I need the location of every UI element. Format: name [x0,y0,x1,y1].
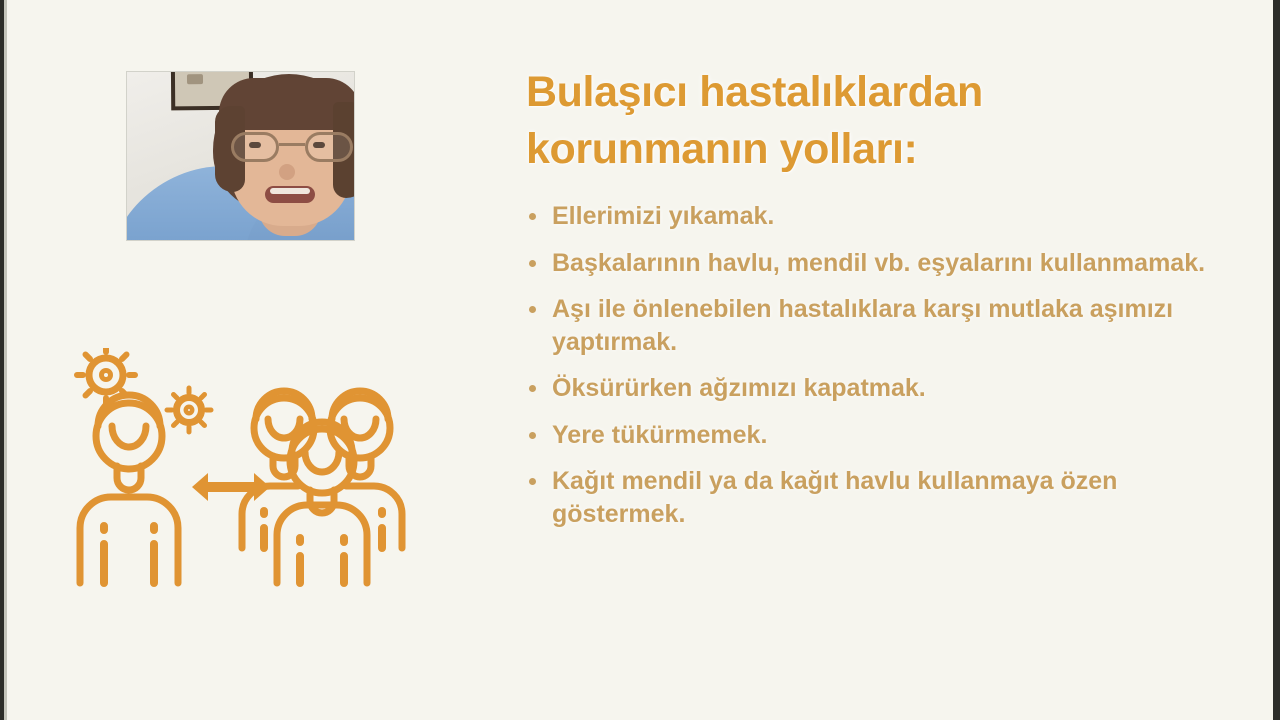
glasses-lens-right [305,132,353,162]
glasses-lens-left [231,132,279,162]
bullet-dot-icon [529,385,536,392]
bullet-dot-icon [529,432,536,439]
list-item-label: Öksürürken ağzımızı kapatmak. [552,374,926,402]
list-item-label: Kağıt mendil ya da kağıt havlu kullanmay… [552,467,1117,528]
speaker-nose [279,164,295,180]
person-group [242,391,402,583]
list-item: Kağıt mendil ya da kağıt havlu kullanmay… [526,465,1248,530]
prevention-tips-list: Ellerimizi yıkamak. Başkalarının havlu, … [518,200,1248,530]
bullet-dot-icon [529,478,536,485]
page-title: Bulaşıcı hastalıklardan korunmanın yolla… [526,64,1146,178]
list-item: Yere tükürmemek. [526,419,1248,452]
list-item: Öksürürken ağzımızı kapatmak. [526,372,1248,405]
germ-icon-small [167,388,211,432]
frame-edge-left-inner [4,0,7,720]
list-item-label: Ellerimizi yıkamak. [552,202,774,230]
person-single [80,395,178,583]
list-item: Ellerimizi yıkamak. [526,200,1248,233]
speaker-teeth [270,188,310,194]
list-item-label: Başkalarının havlu, mendil vb. eşyaların… [552,249,1205,277]
bullet-dot-icon [529,213,536,220]
glasses-bridge [279,143,305,146]
bullet-dot-icon [529,306,536,313]
social-distancing-illustration [72,348,422,593]
list-item: Başkalarının havlu, mendil vb. eşyaların… [526,247,1248,280]
list-item: Aşı ile önlenebilen hastalıklara karşı m… [526,293,1248,358]
video-slide-frame: Bulaşıcı hastalıklardan korunmanın yolla… [0,0,1280,720]
frame-edge-right [1273,0,1280,720]
list-item-label: Aşı ile önlenebilen hastalıklara karşı m… [552,295,1173,356]
glasses-icon [231,132,353,162]
slide-content: Bulaşıcı hastalıklardan korunmanın yolla… [518,64,1248,544]
list-item-label: Yere tükürmemek. [552,421,767,449]
webcam-video-overlay[interactable] [127,72,354,240]
bullet-dot-icon [529,260,536,267]
